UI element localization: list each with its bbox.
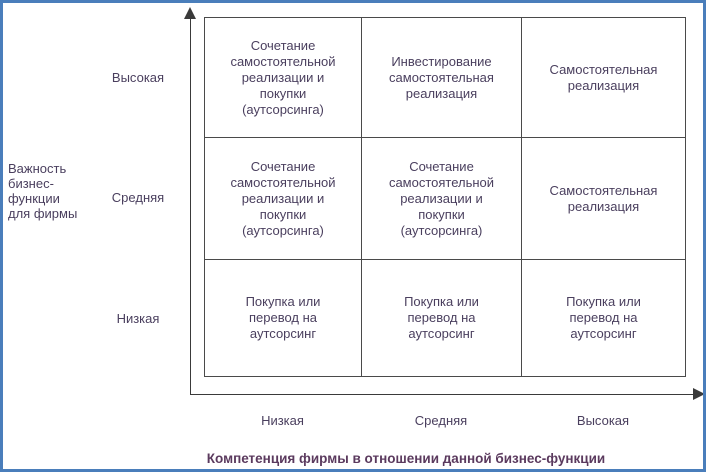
x-axis-arrow-icon — [693, 388, 705, 400]
matrix-cell-medium-low[interactable]: Сочетание самостоятельной реализации и п… — [205, 138, 362, 260]
y-axis-tick-low: Низкая — [95, 311, 181, 326]
matrix-cell-medium-medium[interactable]: Сочетание самостоятельной реализации и п… — [362, 138, 522, 260]
decision-matrix-table: Сочетание самостоятельной реализации и п… — [204, 17, 686, 377]
x-axis-tick-high: Высокая — [521, 413, 685, 428]
matrix-cell-low-low[interactable]: Покупка или перевод на аутсорсинг — [205, 260, 362, 377]
y-axis-tick-high: Высокая — [95, 70, 181, 85]
matrix-row-low-importance: Покупка или перевод на аутсорсинг Покупк… — [205, 260, 686, 377]
x-axis-title: Компетенция фирмы в отношении данной биз… — [123, 451, 689, 467]
matrix-cell-high-medium[interactable]: Инвестирование самостоятельная реализаци… — [362, 18, 522, 138]
matrix-cell-high-low[interactable]: Сочетание самостоятельной реализации и п… — [205, 18, 362, 138]
matrix-cell-high-high[interactable]: Самостоятельная реализация — [522, 18, 686, 138]
matrix-cell-medium-high[interactable]: Самостоятельная реализация — [522, 138, 686, 260]
matrix-cell-low-medium[interactable]: Покупка или перевод на аутсорсинг — [362, 260, 522, 377]
y-axis-arrow-icon — [184, 7, 196, 19]
x-axis-tick-low: Низкая — [204, 413, 361, 428]
y-axis-line — [190, 17, 191, 395]
matrix-cell-low-high[interactable]: Покупка или перевод на аутсорсинг — [522, 260, 686, 377]
x-axis-line — [190, 394, 695, 395]
y-axis-tick-medium: Средняя — [95, 190, 181, 205]
matrix-diagram-canvas: Важность бизнес- функции для фирмы Высок… — [0, 0, 706, 472]
matrix-row-high-importance: Сочетание самостоятельной реализации и п… — [205, 18, 686, 138]
x-axis-tick-medium: Средняя — [361, 413, 521, 428]
matrix-row-medium-importance: Сочетание самостоятельной реализации и п… — [205, 138, 686, 260]
